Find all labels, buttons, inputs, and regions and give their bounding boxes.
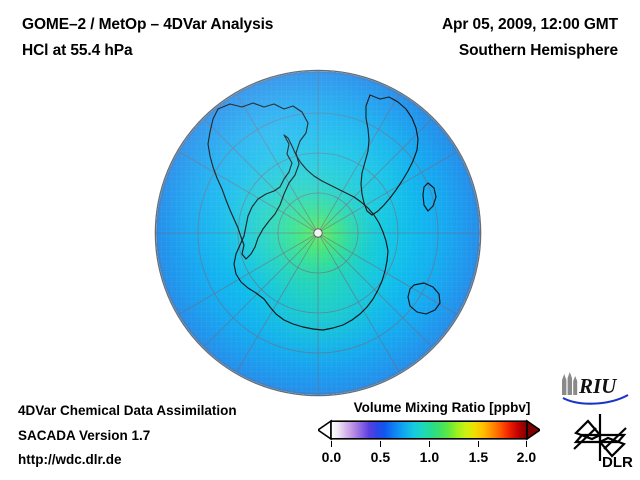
dlr-wordmark: DLR: [602, 454, 633, 469]
colorbar-gradient: [331, 421, 527, 439]
footer-project-line: 4DVar Chemical Data Assimilation: [18, 403, 237, 418]
colorbar-title: Volume Mixing Ratio [ppbv]: [336, 400, 548, 415]
colorbar-tick-labels: 0.0 0.5 1.0 1.5 2.0: [300, 449, 558, 469]
south-pole-marker: [314, 229, 322, 237]
header-region: Southern Hemisphere: [459, 42, 618, 60]
globe-map: [156, 71, 480, 395]
footer-version-line: SACADA Version 1.7: [18, 428, 150, 443]
colorbar-tick-4: 2.0: [499, 449, 553, 465]
header-species-line: HCl at 55.4 hPa: [22, 42, 133, 60]
colorbar-low-arrow: [318, 421, 331, 439]
header-datetime: Apr 05, 2009, 12:00 GMT: [442, 16, 618, 34]
coastline-australia: [408, 283, 440, 314]
colorbar-tick-0: 0.0: [304, 449, 358, 465]
footer-url-link[interactable]: http://wdc.dlr.de: [18, 452, 122, 467]
riu-wordmark: RIU: [578, 374, 618, 398]
coastline-madagascar: [423, 183, 436, 211]
riu-logo: RIU: [558, 371, 632, 407]
dlr-logo: DLR: [566, 411, 634, 469]
header-instrument-line: GOME–2 / MetOp – 4DVar Analysis: [22, 16, 273, 34]
riu-towers-icon: [562, 372, 577, 395]
coastline-south-america: [208, 103, 308, 259]
colorbar-tick-2: 1.0: [402, 449, 456, 465]
colorbar-tick-marks: [318, 441, 540, 449]
colorbar-tick-1: 0.5: [353, 449, 407, 465]
colorbar-high-arrow: [527, 421, 540, 439]
globe-disc: [156, 71, 480, 395]
colorbar-tick-3: 1.5: [451, 449, 505, 465]
colorbar: [318, 419, 540, 441]
map-overlay: [156, 71, 480, 395]
